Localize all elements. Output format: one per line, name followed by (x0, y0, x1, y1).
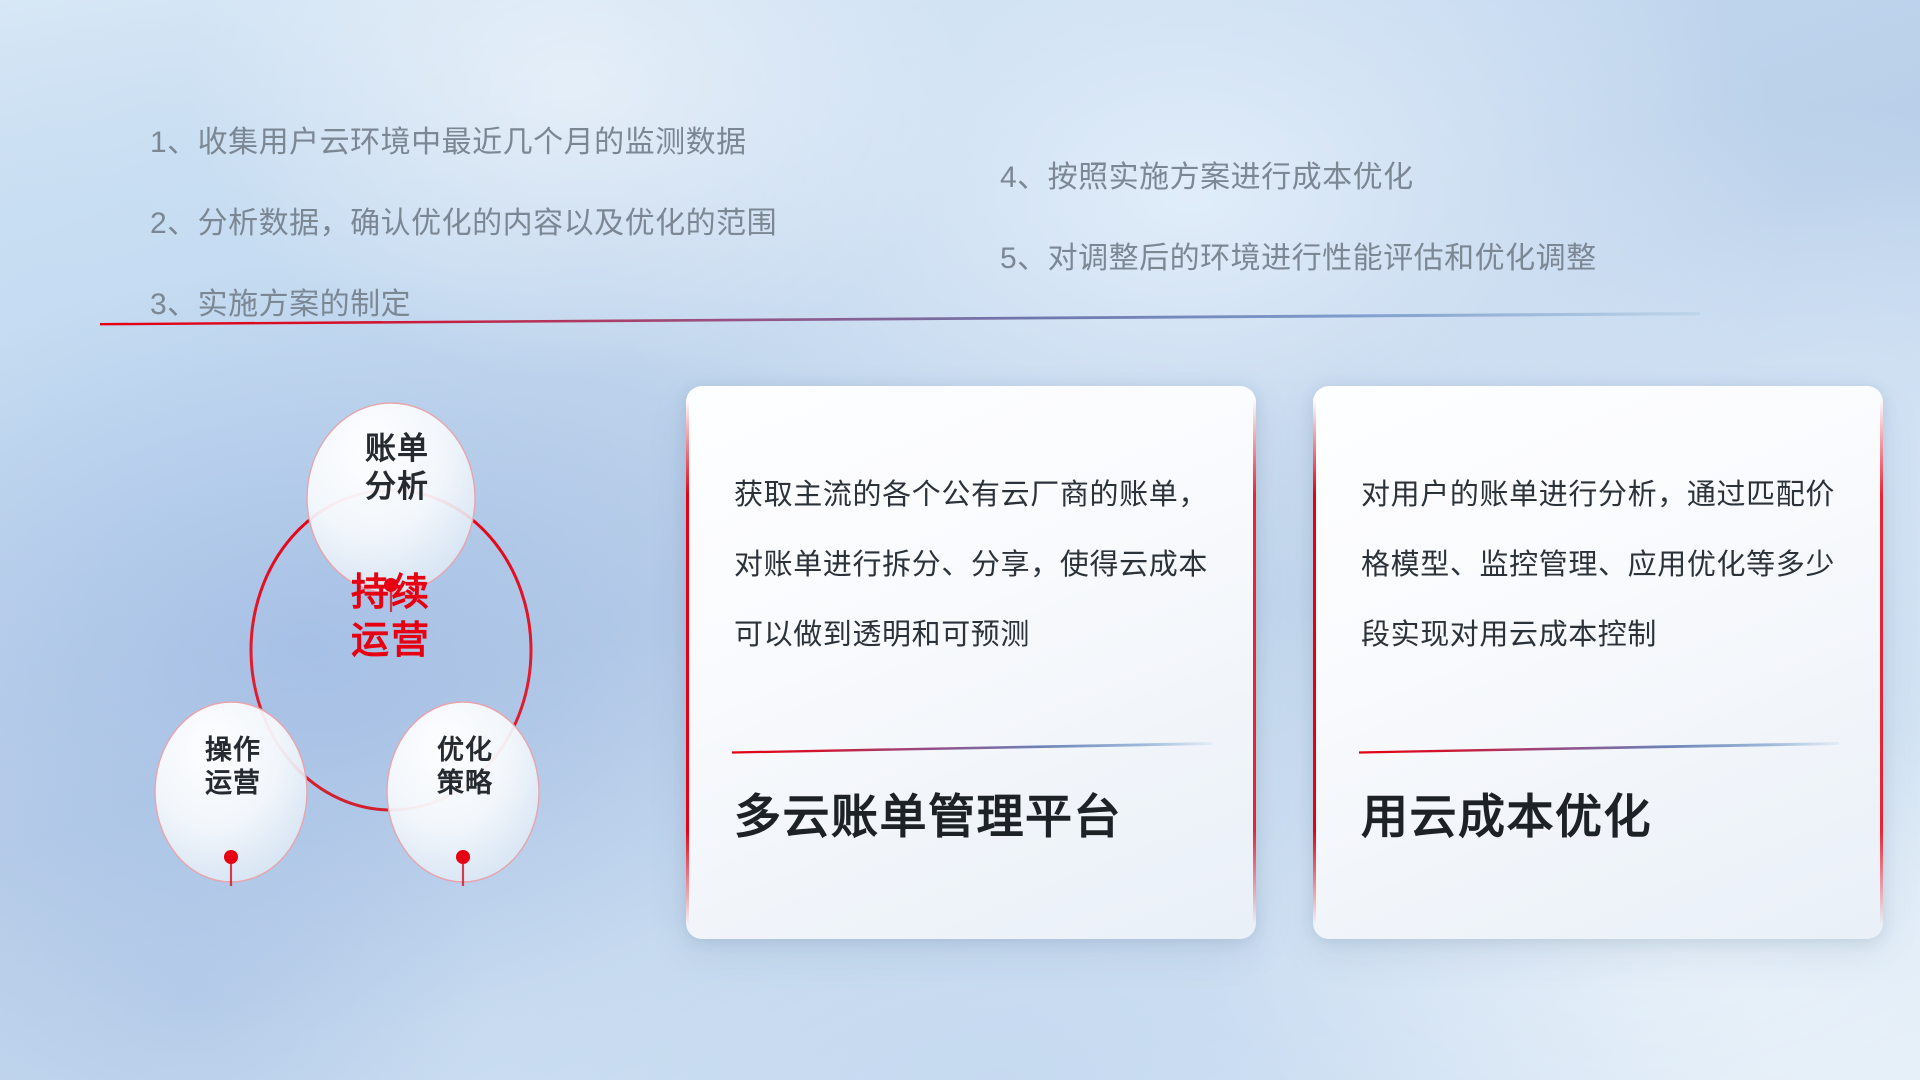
step-item: 2、分析数据，确认优化的内容以及优化的范围 (150, 209, 777, 239)
steps-column-left: 1、收集用户云环境中最近几个月的监测数据 2、分析数据，确认优化的内容以及优化的… (150, 128, 777, 320)
card-body-text: 获取主流的各个公有云厂商的账单，对账单进行拆分、分享，使得云成本可以做到透明和可… (734, 460, 1208, 671)
card-rule (1359, 742, 1839, 754)
step-item: 1、收集用户云环境中最近几个月的监测数据 (150, 128, 777, 158)
card-body-text: 对用户的账单进行分析，通过匹配价格模型、监控管理、应用优化等多少段实现对用云成本… (1361, 460, 1835, 671)
connector-dot-bottom-right (456, 850, 470, 864)
node-label-billing-analysis: 账单 分析 (317, 430, 477, 506)
card-multi-cloud-billing-platform[interactable]: 获取主流的各个公有云厂商的账单，对账单进行拆分、分享，使得云成本可以做到透明和可… (686, 386, 1256, 939)
continuous-operations-diagram: 账单 分析 持续 运营 操作 运营 优化 策略 (85, 330, 645, 950)
section-divider (100, 312, 1700, 326)
connector-dot-bottom-left (224, 850, 238, 864)
card-title: 用云成本优化 (1361, 778, 1652, 847)
card-title: 多云账单管理平台 (734, 778, 1122, 847)
feature-cards: 获取主流的各个公有云厂商的账单，对账单进行拆分、分享，使得云成本可以做到透明和可… (686, 386, 1883, 939)
step-item: 5、对调整后的环境进行性能评估和优化调整 (1000, 244, 1597, 274)
steps-column-right: 4、按照实施方案进行成本优化 5、对调整后的环境进行性能评估和优化调整 (1000, 163, 1597, 274)
node-label-optimization-strategy: 优化 策略 (385, 734, 545, 800)
diagram-center-label: 持续 运营 (281, 570, 501, 666)
slide-root: 1、收集用户云环境中最近几个月的监测数据 2、分析数据，确认优化的内容以及优化的… (0, 0, 1920, 1080)
card-rule (732, 742, 1212, 754)
step-item: 4、按照实施方案进行成本优化 (1000, 163, 1597, 193)
node-label-operations: 操作 运营 (153, 734, 313, 800)
card-cloud-cost-optimization[interactable]: 对用户的账单进行分析，通过匹配价格模型、监控管理、应用优化等多少段实现对用云成本… (1313, 386, 1883, 939)
